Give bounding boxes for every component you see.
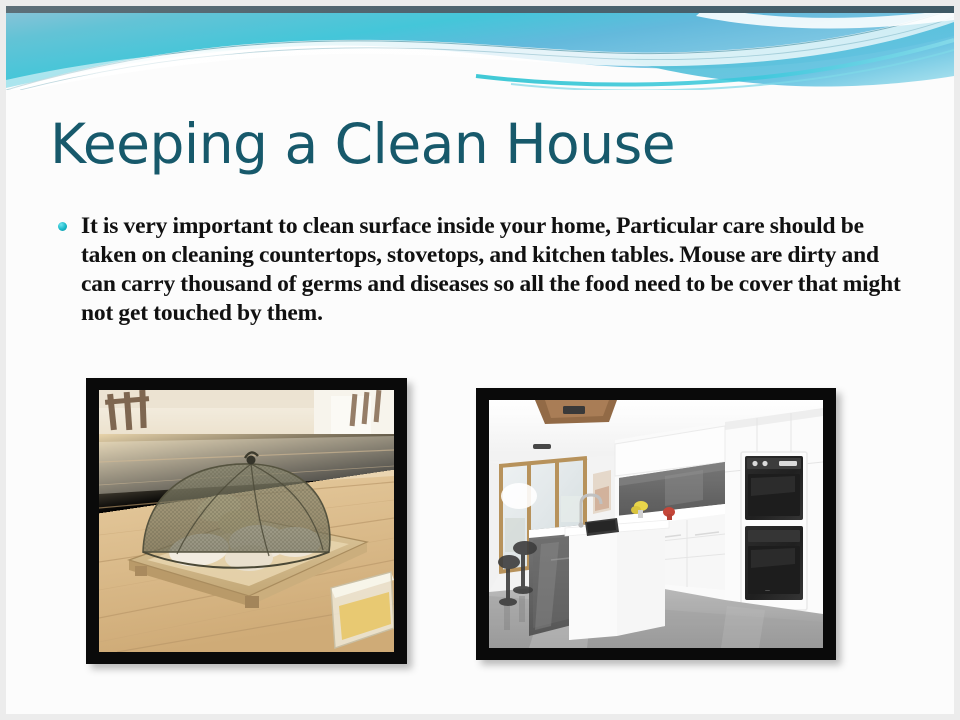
food-cover-photo — [99, 390, 394, 652]
banner-top-strip — [6, 6, 954, 13]
bullet-paragraph: It is very important to clean surface in… — [58, 212, 914, 328]
modern-kitchen-photo-frame: — — [476, 388, 836, 660]
page-title: Keeping a Clean House — [50, 114, 910, 174]
food-cover-photo-frame — [86, 378, 407, 664]
decorative-wave-banner — [6, 6, 954, 90]
wave-banner-graphic — [6, 6, 954, 90]
presentation-slide: Keeping a Clean House It is very importa… — [0, 0, 960, 720]
body-text: It is very important to clean surface in… — [81, 212, 914, 328]
bullet-dot-icon — [58, 222, 67, 231]
food-cover-illustration — [99, 390, 394, 652]
modern-kitchen-illustration: — — [489, 400, 823, 648]
modern-kitchen-photo: — — [489, 400, 823, 648]
